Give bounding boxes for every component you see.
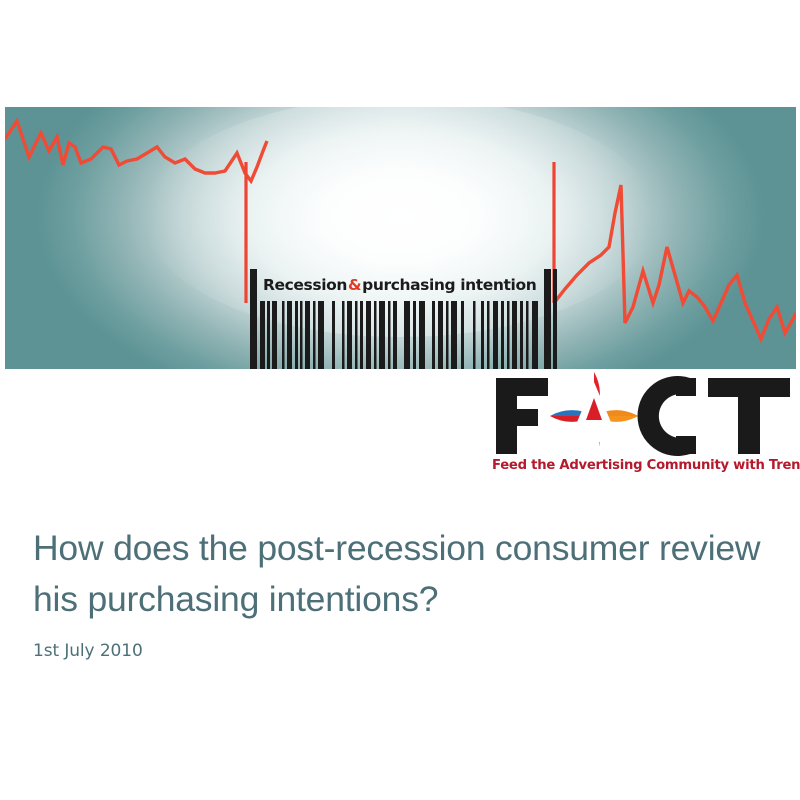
logo-letter-t <box>708 378 790 454</box>
barcode-heading-before: Recession <box>263 276 347 294</box>
barcode-heading-after: purchasing intention <box>362 276 536 294</box>
logo-letter-c <box>638 376 696 456</box>
fact-wordmark <box>490 372 796 460</box>
recession-banner-image: Recession & purchasing intention <box>5 107 796 369</box>
presentation-date: 1st July 2010 <box>33 641 763 661</box>
logo-letter-f <box>496 378 548 454</box>
barcode-heading: Recession & purchasing intention <box>263 274 548 296</box>
page-title: How does the post-recession consumer rev… <box>33 523 763 625</box>
logo-a-center-split <box>589 434 599 460</box>
headline-block: How does the post-recession consumer rev… <box>33 523 763 661</box>
logo-tagline: Feed the Advertising Community with Tren… <box>492 458 796 473</box>
logo-letter-a <box>550 372 638 460</box>
fact-logo: Feed the Advertising Community with Tren… <box>490 372 796 478</box>
barcode-heading-ampersand: & <box>347 276 362 294</box>
title-slide: Recession & purchasing intention <box>0 0 800 800</box>
